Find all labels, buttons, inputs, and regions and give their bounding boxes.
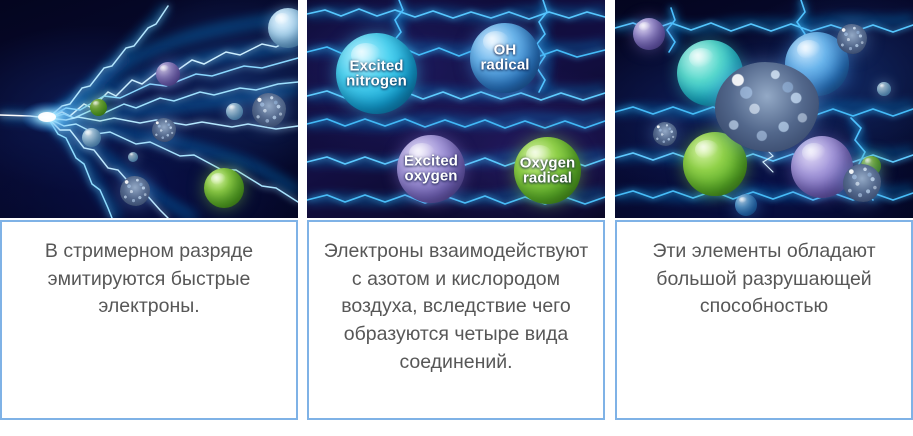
sphere-oxygen-radical: Oxygen radical (514, 137, 581, 204)
particle-sphere (128, 152, 138, 162)
particle-sphere (633, 18, 665, 50)
particle-cluster (252, 93, 286, 127)
particle-sphere (877, 82, 891, 96)
sphere-label-line: Excited (336, 58, 417, 73)
illustration-streamer-discharge-fast-electrons (0, 0, 298, 218)
sphere-label-line: nitrogen (336, 74, 417, 89)
particle-cluster (843, 164, 881, 202)
sphere-label-line: OH (470, 43, 540, 58)
sphere-label-line: radical (470, 58, 540, 73)
sphere-label-line: Oxygen (514, 155, 581, 170)
particle-sphere (156, 62, 180, 86)
caption-box-3: Эти элементы обладают большой разрушающе… (615, 220, 913, 420)
particle-cluster (653, 122, 677, 146)
panel-streamer-discharge: В стримерном разряде эмитируются быстрые… (0, 0, 298, 436)
sphere-excited-nitrogen: Excited nitrogen (336, 33, 417, 114)
illustration-reactive-species-attacking-cluster (615, 0, 913, 218)
cluster-target (715, 62, 819, 152)
particle-cluster (837, 24, 867, 54)
sphere-label-line: Excited (397, 154, 465, 169)
sphere-label-excited-oxygen: Excited oxygen (397, 154, 465, 185)
sphere-label-oxygen-radical: Oxygen radical (514, 155, 581, 186)
illustration-four-reactive-species-spheres: Excited nitrogen OH radical Excited oxyg… (307, 0, 605, 218)
caption-box-2: Электроны взаимодействуют с азотом и кис… (307, 220, 605, 420)
sphere-label-oh-radical: OH radical (470, 43, 540, 74)
sphere-label-line: oxygen (397, 169, 465, 184)
particle-sphere (735, 194, 757, 216)
caption-text-2: Электроны взаимодействуют с азотом и кис… (319, 238, 593, 376)
particle-sphere (90, 99, 107, 116)
sphere-label-line: radical (514, 171, 581, 186)
panel-destructive-action: Эти элементы обладают большой разрушающе… (615, 0, 913, 436)
sphere-label-excited-nitrogen: Excited nitrogen (336, 58, 417, 89)
panel-reactive-species: Excited nitrogen OH radical Excited oxyg… (307, 0, 605, 436)
particle-sphere (204, 168, 244, 208)
three-panel-figure: В стримерном разряде эмитируются быстрые… (0, 0, 913, 436)
particle-sphere (226, 103, 243, 120)
particle-cluster (120, 176, 150, 206)
particle-sphere (82, 128, 101, 147)
sphere-oh-radical: OH radical (470, 23, 540, 93)
sphere-excited-oxygen: Excited oxygen (397, 135, 465, 203)
caption-text-1: В стримерном разряде эмитируются быстрые… (12, 238, 286, 321)
caption-text-3: Эти элементы обладают большой разрушающе… (627, 238, 901, 321)
caption-box-1: В стримерном разряде эмитируются быстрые… (0, 220, 298, 420)
particle-cluster (152, 118, 176, 142)
